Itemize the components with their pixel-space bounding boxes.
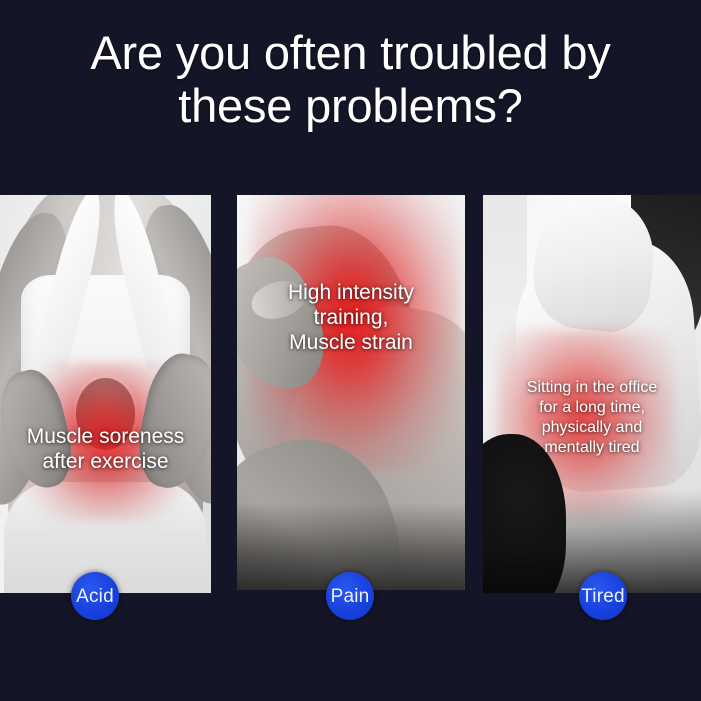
problem-panel-pain[interactable] [237,195,465,590]
photo-muscle-strain [237,195,465,590]
badge-acid[interactable]: Acid [71,572,119,620]
photo-muscle-soreness [0,195,211,593]
page-title: Are you often troubled by these problems… [0,26,701,132]
badge-pain[interactable]: Pain [326,572,374,620]
problem-panel-acid[interactable] [0,195,211,593]
problem-panels [0,195,701,595]
photo-office-fatigue [483,195,701,593]
problem-panel-tired[interactable] [483,195,701,593]
badge-tired[interactable]: Tired [579,572,627,620]
promo-poster: Are you often troubled by these problems… [0,0,701,701]
